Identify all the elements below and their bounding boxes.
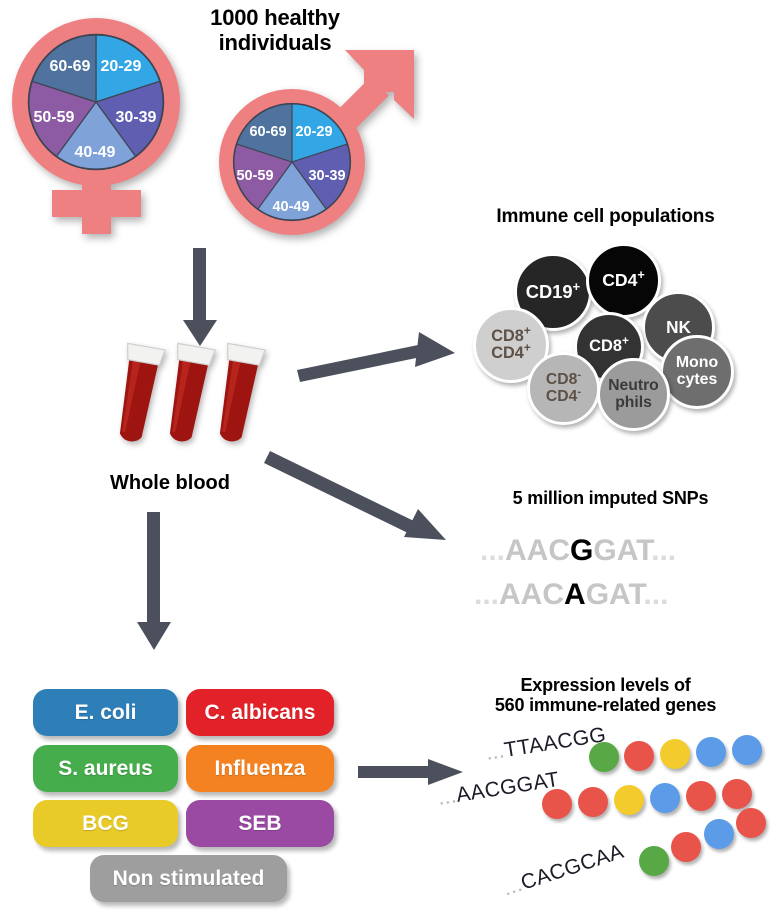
expression-bead [736,808,766,838]
immune-cell-bubble: Neutrophils [597,358,670,431]
immune-cell-label-line1: Neutro [608,378,659,394]
immune-cell-label-line1: CD8+ [589,338,629,355]
stimulus-label: Influenza [214,757,305,781]
expression-strands: ...TTAACGG ...AACGGAT ...CACGCAA [440,730,771,920]
snp-right-1: GAT [593,534,651,567]
immune-cell-bubble: CD19+ [514,253,592,331]
snp-right-2: GAT [586,578,644,611]
expression-bead [671,832,701,862]
snp-suffix-2: ... [643,578,668,611]
expression-title-line2: 560 immune-related genes [440,695,771,715]
snp-suffix-1: ... [651,534,676,567]
stimulus-label: E. coli [75,701,137,725]
expression-bead [639,846,669,876]
expression-bead [686,781,716,811]
immune-cell-label-line1: CD8- [546,372,581,388]
snp-prefix-2: ... [474,578,499,611]
immune-cell-bubble: CD4+ [586,243,661,318]
immune-cell-bubble: NK [642,291,715,364]
immune-cell-bubble: Monocytes [660,335,734,409]
immune-title: Immune cell populations [440,206,771,227]
stimulus-box[interactable]: SEB [186,800,334,847]
snp-allele-1: G [570,534,593,567]
expression-bead [650,783,680,813]
immune-cell-label-line1: NK [666,319,691,337]
immune-cell-label-line1: Mono [676,355,718,372]
expression-bead [578,787,608,817]
snp-title: 5 million imputed SNPs [450,488,771,508]
immune-cell-label-line2: phils [608,395,659,411]
expression-title: Expression levels of 560 immune-related … [440,675,771,715]
immune-cell-bubble: CD8-CD4- [527,352,600,425]
expression-bead [660,739,690,769]
stimulus-label: C. albicans [205,701,316,725]
stimulus-label: SEB [238,812,281,836]
immune-cell-label-line1: CD4+ [602,271,645,289]
snp-left-1: AAC [505,534,570,567]
expression-bead [732,735,762,765]
immune-cell-label-line2: cytes [676,372,718,389]
immune-cell-label-line2: CD4+ [491,345,530,362]
snp-sequence-row-1: ...AACGGAT... [480,534,676,568]
expression-strand-3-text: ...CACGCAA [500,840,627,902]
study-design-diagram: 1000 healthy individuals [0,0,771,922]
expression-bead [542,789,572,819]
expression-bead [589,742,619,772]
immune-cell-bubble: CD8+CD4+ [473,307,549,383]
stimulus-box[interactable]: E. coli [33,689,178,736]
snp-sequences: ...AACGGAT... ...AACAGAT... [470,534,750,624]
stimulus-box[interactable]: Non stimulated [90,855,287,902]
immune-cell-label-line1: CD19+ [526,282,580,301]
stimulus-label: S. aureus [58,757,153,781]
stimuli-panel: E. coliC. albicansS. aureusInfluenzaBCGS… [0,0,400,922]
stimulus-label: Non stimulated [113,867,265,891]
expression-title-line1: Expression levels of [440,675,771,695]
immune-cell-bubble: CD8+ [574,312,644,382]
expression-strand-3-sequence: CACGCAA [518,840,627,895]
expression-bead [696,737,726,767]
immune-cell-label-line1: CD8+ [491,328,530,345]
snp-sequence-row-2: ...AACAGAT... [474,578,668,612]
expression-bead [722,779,752,809]
snp-prefix-1: ... [480,534,505,567]
stimulus-box[interactable]: BCG [33,800,178,847]
expression-bead [624,741,654,771]
expression-bead [614,785,644,815]
expression-bead [704,819,734,849]
stimulus-label: BCG [82,812,129,836]
stimulus-box[interactable]: S. aureus [33,745,178,792]
snp-allele-2: A [564,578,586,611]
snp-left-2: AAC [499,578,564,611]
immune-cell-label-line2: CD4- [546,389,581,405]
stimulus-box[interactable]: C. albicans [186,689,334,736]
stimulus-box[interactable]: Influenza [186,745,334,792]
